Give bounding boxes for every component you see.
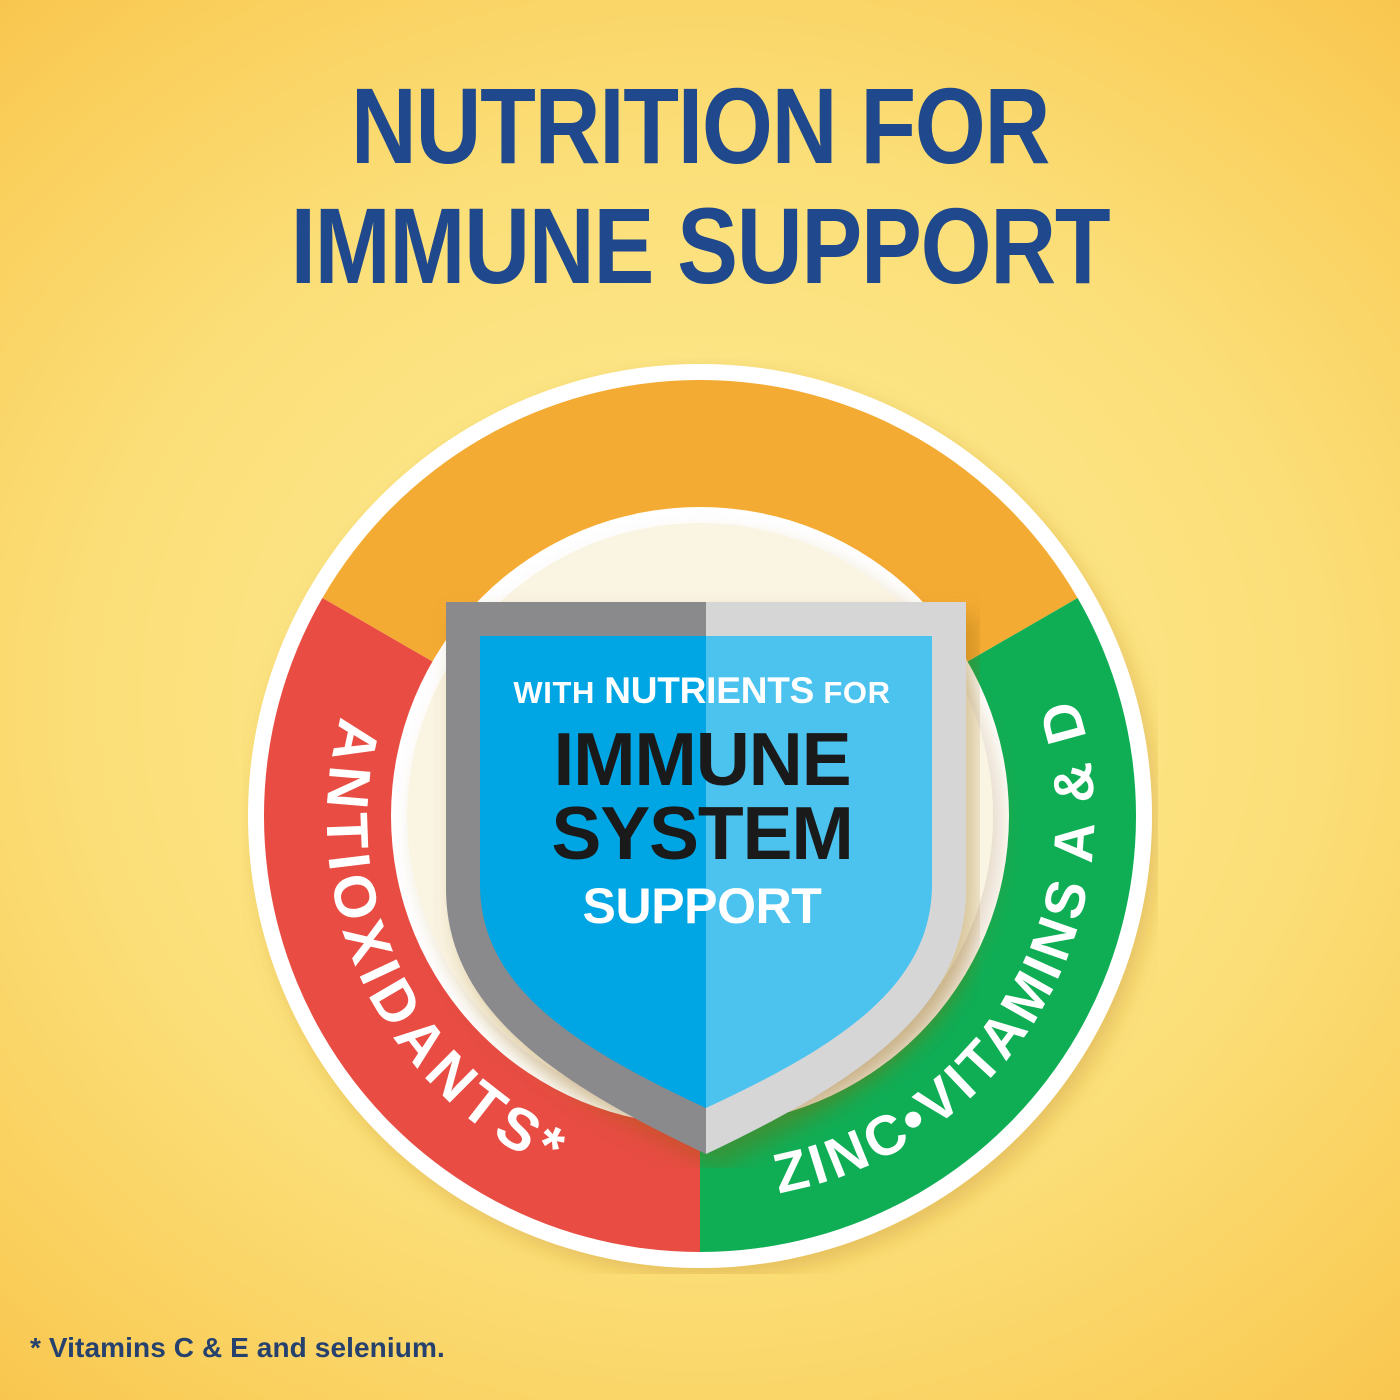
page-title-line-1: NUTRITION FOR xyxy=(109,72,1292,180)
footnote-disclaimer: * Vitamins C & E and selenium. xyxy=(30,1332,445,1364)
shield-svg xyxy=(432,588,980,1168)
page-title-line-2: IMMUNE SUPPORT xyxy=(109,192,1292,300)
immune-shield-badge xyxy=(432,588,980,1168)
page-title: NUTRITION FOR IMMUNE SUPPORT xyxy=(109,72,1292,300)
poster-canvas: NUTRITION FOR IMMUNE SUPPORT xyxy=(0,0,1400,1400)
